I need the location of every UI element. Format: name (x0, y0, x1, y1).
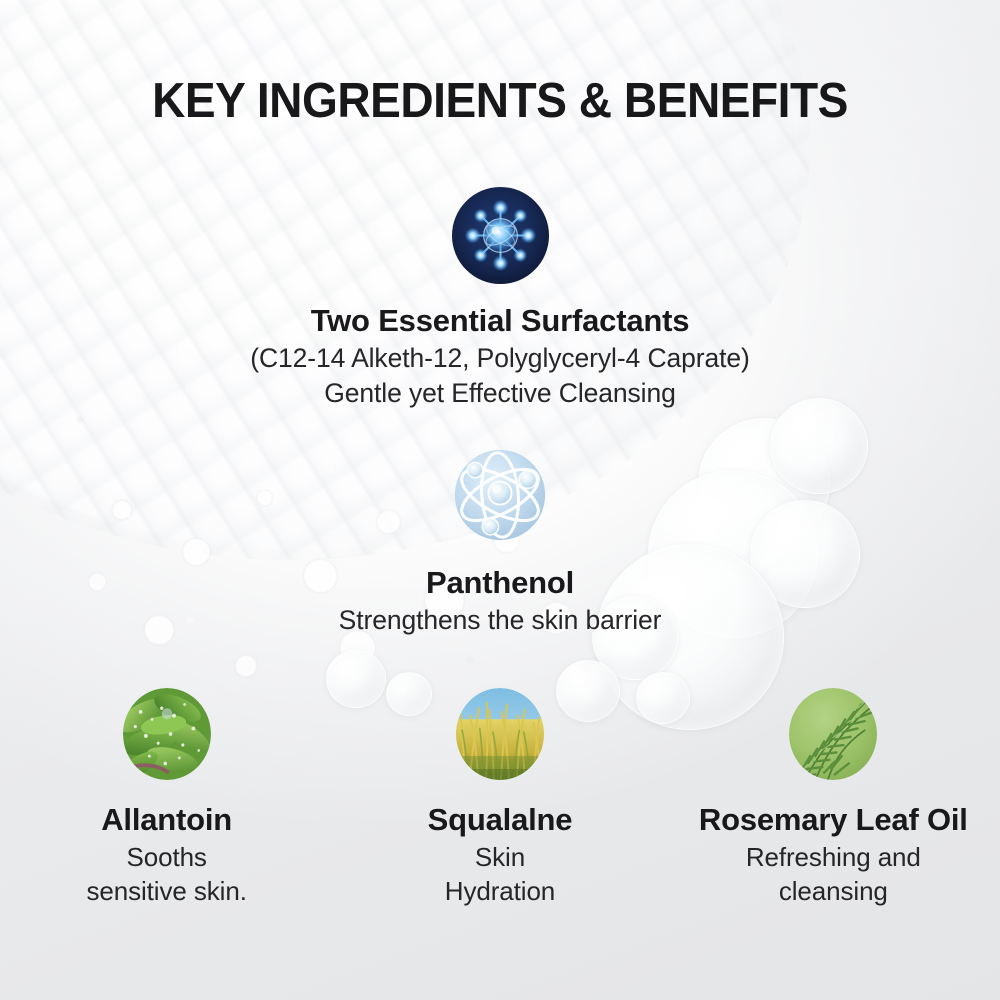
atom-panthenol-icon-art (452, 445, 548, 545)
rosemary-sprig-icon (789, 688, 877, 780)
page-title: KEY INGREDIENTS & BENEFITS (30, 72, 970, 130)
section-heading: Two Essential Surfactants (0, 301, 1000, 341)
ingredient-rosemary: Rosemary Leaf Oil Refreshing and cleansi… (667, 688, 1000, 908)
ingredient-heading: Rosemary Leaf Oil (667, 800, 1000, 840)
ingredient-line: Hydration (333, 874, 666, 908)
section-heading: Panthenol (0, 563, 1000, 603)
comfrey-leaves-icon (123, 688, 211, 780)
ingredients-infographic: KEY INGREDIENTS & BENEFITS (0, 0, 1000, 1000)
section-surfactants: Two Essential Surfactants (C12-14 Alketh… (0, 186, 1000, 411)
ingredient-line: Skin (333, 840, 666, 874)
ingredient-line: sensitive skin. (0, 874, 333, 908)
section-line: Strengthens the skin barrier (0, 603, 1000, 638)
sugarcane-field-icon (456, 688, 544, 780)
atom-panthenol-icon (452, 445, 548, 545)
molecule-surfactant-icon-art (451, 186, 550, 285)
sugarcane-field-icon-art (456, 688, 544, 780)
comfrey-leaves-icon-art (123, 688, 211, 780)
section-line: Gentle yet Effective Cleansing (0, 376, 1000, 411)
section-panthenol: Panthenol Strengthens the skin barrier (0, 445, 1000, 638)
ingredient-row: Allantoin Sooths sensitive skin. (0, 688, 1000, 908)
ingredient-squalane: Squalalne Skin Hydration (333, 688, 666, 908)
ingredient-line: cleansing (667, 874, 1000, 908)
ingredient-heading: Allantoin (0, 800, 333, 840)
rosemary-sprig-icon-art (789, 688, 877, 780)
ingredient-line: Sooths (0, 840, 333, 874)
ingredient-allantoin: Allantoin Sooths sensitive skin. (0, 688, 333, 908)
ingredient-heading: Squalalne (333, 800, 666, 840)
section-line: (C12-14 Alketh-12, Polyglyceryl-4 Caprat… (0, 341, 1000, 376)
molecule-surfactant-icon (451, 186, 550, 285)
ingredient-line: Refreshing and (667, 840, 1000, 874)
